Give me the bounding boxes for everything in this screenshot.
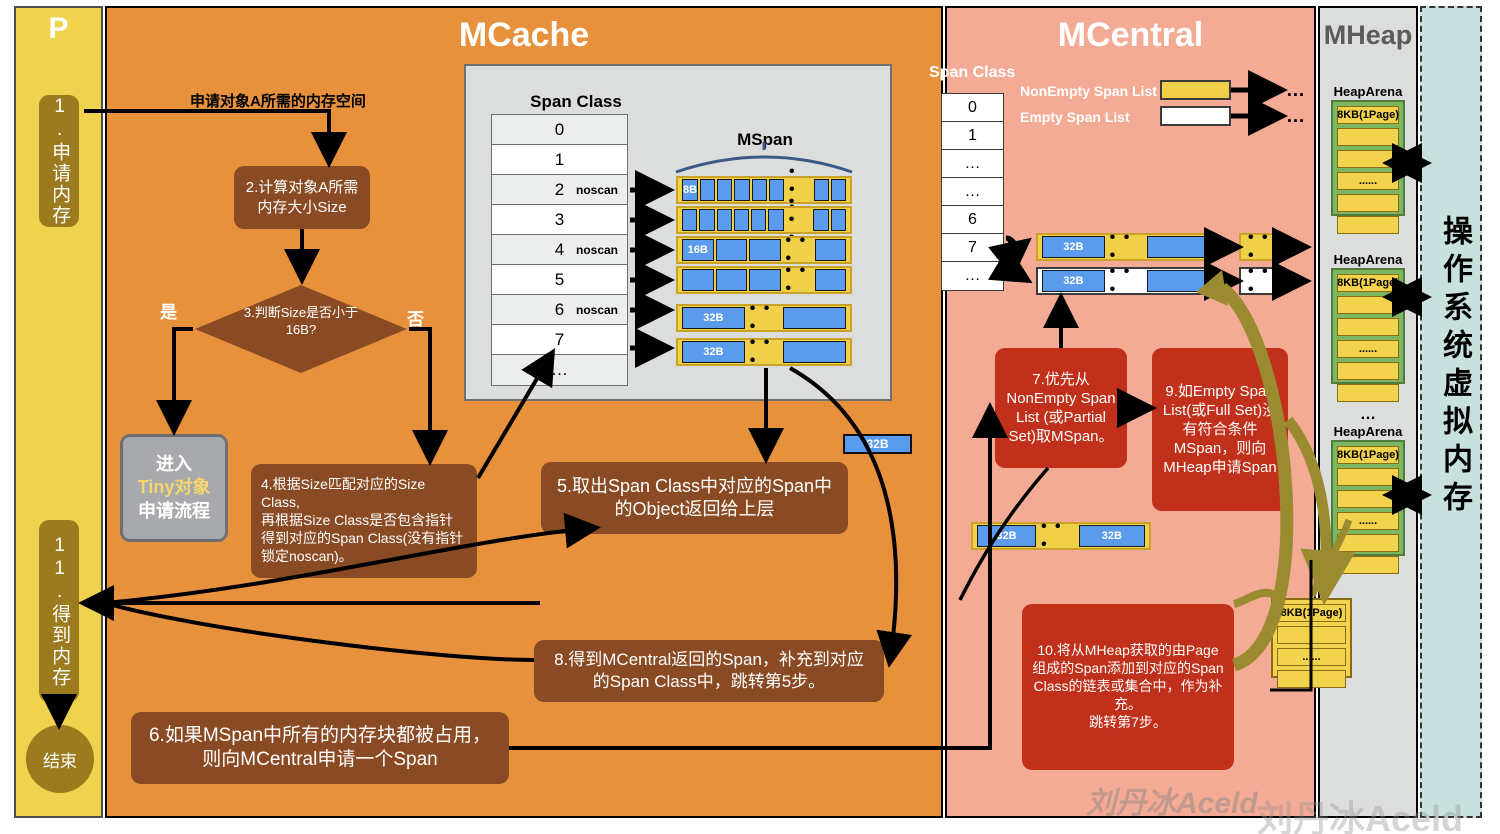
span-class-row[interactable]: … <box>492 355 627 385</box>
mspan-strip[interactable]: 16B• • • <box>676 236 852 264</box>
mspan-object <box>717 209 732 231</box>
arena-page: ...... <box>1337 512 1399 530</box>
span-object: 32B <box>1042 270 1105 292</box>
arena-ellipsis: … <box>1330 406 1406 424</box>
span-class-id: 0 <box>555 120 564 140</box>
noscan-tag: noscan <box>576 183 618 197</box>
mspan-strip[interactable]: 32B• • • <box>676 304 852 332</box>
nonempty-list-ellipsis: … <box>1286 80 1305 102</box>
mspan-ellipsis: • • • <box>747 300 782 336</box>
step-10-box: 10.将从MHeap获取的由Page组成的Span添加到对应的Span Clas… <box>1022 604 1234 770</box>
arena-page <box>1337 296 1399 314</box>
span-class-row[interactable]: 5 <box>492 265 627 295</box>
span-class-row[interactable]: 0 <box>492 115 627 145</box>
mspan-ellipsis: • • • <box>747 334 782 370</box>
arena-page <box>1337 150 1399 168</box>
end-node: 结束 <box>26 725 94 793</box>
mspan-object-tail <box>814 179 829 201</box>
detached-page-stack: 8KB(1Page) ...... <box>1271 598 1352 678</box>
mcentral-empty-next: • • • <box>1239 267 1285 295</box>
mspan-object-tail <box>815 239 847 261</box>
tiny-line-3: 申请流程 <box>138 500 210 523</box>
heap-arena[interactable]: 8KB(1Page)...... <box>1331 268 1405 384</box>
empty-span-list-box <box>1160 106 1231 126</box>
mspan-object <box>769 179 784 201</box>
tiny-line-2: Tiny对象 <box>138 476 211 499</box>
arena-page <box>1337 216 1399 234</box>
arena-page: 8KB(1Page) <box>1337 274 1399 292</box>
span-class-row[interactable]: 7 <box>492 325 627 355</box>
panel-title-p: P <box>14 12 103 46</box>
mcache-span-class-table: 012noscan34noscan56noscan7… <box>491 114 628 386</box>
mcentral-span-class-header: Span Class <box>929 64 1015 82</box>
mspan-object <box>734 179 749 201</box>
arena-label: HeapArena <box>1330 252 1406 267</box>
mspan-object <box>682 209 697 231</box>
mcentral-empty-span: 32B • • • <box>1036 267 1217 295</box>
nonempty-span-list-label: NonEmpty Span List <box>1020 83 1157 99</box>
panel-title-mcache: MCache <box>105 16 943 55</box>
mcentral-span-class-row[interactable]: 0 <box>942 94 1003 122</box>
noscan-tag: noscan <box>576 243 618 257</box>
span-class-row[interactable]: 3 <box>492 205 627 235</box>
floating-32b-object: 32B <box>843 434 912 454</box>
arena-page <box>1337 490 1399 508</box>
span-class-id: 3 <box>555 210 564 230</box>
watermark-1: 刘丹冰Aceld <box>1086 778 1258 822</box>
tiny-line-1: 进入 <box>156 453 192 476</box>
mspan-object-tail <box>813 209 828 231</box>
mcache-mspan-header: MSpan <box>700 130 830 150</box>
span-class-id: 5 <box>555 270 564 290</box>
step-11-box: 11.得到内存 <box>39 520 79 702</box>
mspan-object <box>682 269 714 291</box>
branch-yes-label: 是 <box>160 298 177 323</box>
step-2-box: 2.计算对象A所需内存大小Size <box>234 166 370 229</box>
os-virtual-memory-label: 操作系统虚拟内存 <box>1428 215 1476 519</box>
mspan-object <box>717 179 732 201</box>
arena-page <box>1337 128 1399 146</box>
mspan-object-tail <box>815 269 847 291</box>
heap-arena[interactable]: 8KB(1Page)...... <box>1331 100 1405 216</box>
mspan-object-tail <box>831 209 846 231</box>
page-cell <box>1277 626 1346 644</box>
mcentral-span-class-row[interactable]: 7 <box>942 234 1003 262</box>
span-ellipsis: • • • <box>1107 263 1145 299</box>
step-1-box: 1.申请内存 <box>39 95 79 227</box>
mspan-object: 16B <box>682 239 714 261</box>
arena-page: ...... <box>1337 340 1399 358</box>
mspan-strip[interactable]: 32B• • • <box>676 338 852 366</box>
watermark-2: 刘丹冰Aceld <box>1257 790 1463 834</box>
mcentral-loose-span: 32B • • • 32B <box>971 522 1151 550</box>
span-class-row[interactable]: 6noscan <box>492 295 627 325</box>
mspan-strip[interactable]: • • • <box>676 206 852 234</box>
loose-span-object-right: 32B <box>1079 525 1145 547</box>
loose-span-ellipsis: • • • <box>1038 518 1077 554</box>
arena-page: 8KB(1Page) <box>1337 106 1399 124</box>
step-4-box: 4.根据Size匹配对应的Size Class, 再根据Size Class是否… <box>251 464 477 578</box>
span-class-row[interactable]: 4noscan <box>492 235 627 265</box>
loose-span-object-left: 32B <box>977 525 1036 547</box>
span-class-row[interactable]: 2noscan <box>492 175 627 205</box>
mspan-object: 32B <box>682 307 745 329</box>
empty-list-ellipsis: … <box>1286 106 1305 128</box>
span-class-id: 2 <box>555 180 564 200</box>
request-memory-edge-label: 申请对象A所需的内存空间 <box>190 90 366 111</box>
mspan-object-tail <box>783 307 846 329</box>
step-3-decision: 3.判断Size是否小于16B? <box>193 283 409 375</box>
arena-page <box>1337 534 1399 552</box>
mcentral-span-class-row[interactable]: … <box>942 178 1003 206</box>
arena-page <box>1337 556 1399 574</box>
mcentral-nonempty-span: 32B • • • <box>1036 233 1217 261</box>
panel-title-mheap: MHeap <box>1318 20 1418 51</box>
page-cell: ...... <box>1277 648 1346 666</box>
mspan-object <box>699 209 714 231</box>
mcentral-span-class-row[interactable]: 6 <box>942 206 1003 234</box>
mcentral-span-class-row[interactable]: … <box>942 150 1003 178</box>
span-object-tail <box>1147 270 1211 292</box>
next-ellipsis: • • • <box>1245 229 1279 265</box>
arena-page <box>1337 468 1399 486</box>
span-class-id: 4 <box>555 240 564 260</box>
mcentral-span-class-row[interactable]: 1 <box>942 122 1003 150</box>
mspan-object <box>751 209 766 231</box>
arena-page <box>1337 194 1399 212</box>
diagram-canvas: P MCache MCentral MHeap 操作系统虚拟内存 1.申请内存 … <box>0 0 1500 834</box>
arena-page: ...... <box>1337 172 1399 190</box>
step-6-box: 6.如果MSpan中所有的内存块都被占用，则向MCentral申请一个Span <box>131 712 509 784</box>
noscan-tag: noscan <box>576 303 618 317</box>
next-ellipsis: • • • <box>1245 263 1279 299</box>
span-class-row[interactable]: 1 <box>492 145 627 175</box>
mspan-strip[interactable]: • • • <box>676 266 852 294</box>
tiny-object-flow-box: 进入 Tiny对象 申请流程 <box>120 434 228 542</box>
mcentral-span-class-table: 01……67… <box>941 93 1004 291</box>
mcentral-span-class-row[interactable]: … <box>942 262 1003 290</box>
arena-page <box>1337 384 1399 402</box>
empty-span-list-label: Empty Span List <box>1020 109 1130 125</box>
mspan-object <box>749 269 781 291</box>
arena-label: HeapArena <box>1330 84 1406 99</box>
step-3-label: 3.判断Size是否小于16B? <box>238 305 364 339</box>
branch-no-label: 否 <box>407 305 424 330</box>
mspan-object-tail <box>783 341 846 363</box>
arena-page: 8KB(1Page) <box>1337 446 1399 464</box>
mcache-span-class-header: Span Class <box>516 92 636 112</box>
panel-title-mcentral: MCentral <box>945 16 1316 55</box>
arena-page <box>1337 362 1399 380</box>
arena-page <box>1337 318 1399 336</box>
mspan-object <box>768 209 783 231</box>
mspan-object: 32B <box>682 341 745 363</box>
mspan-object <box>752 179 767 201</box>
nonempty-span-list-box <box>1160 80 1231 100</box>
span-class-id: 1 <box>555 150 564 170</box>
page-cell: 8KB(1Page) <box>1277 604 1346 622</box>
span-ellipsis: • • • <box>1107 229 1145 265</box>
mspan-strip[interactable]: 8B• • • <box>676 176 852 204</box>
heap-arena[interactable]: 8KB(1Page)...... <box>1331 440 1405 556</box>
step-7-box: 7.优先从NonEmpty Span List (或Partial Set)取M… <box>995 348 1127 468</box>
mspan-ellipsis: • • • <box>783 262 813 298</box>
mspan-object <box>716 239 748 261</box>
span-class-id: 6 <box>555 300 564 320</box>
mspan-object <box>716 269 748 291</box>
mspan-object <box>700 179 715 201</box>
arena-label: HeapArena <box>1330 424 1406 439</box>
mspan-object-tail <box>831 179 846 201</box>
span-class-id: … <box>551 360 568 380</box>
mspan-object <box>749 239 781 261</box>
mspan-object: 8B <box>682 179 698 201</box>
span-object: 32B <box>1042 236 1105 258</box>
span-class-id: 7 <box>555 330 564 350</box>
page-cell <box>1277 670 1346 688</box>
span-object-tail <box>1147 236 1211 258</box>
step-8-box: 8.得到MCentral返回的Span，补充到对应的Span Class中，跳转… <box>534 640 884 702</box>
mspan-object <box>734 209 749 231</box>
mcentral-nonempty-next: • • • <box>1239 233 1285 261</box>
step-9-box: 9.如Empty Span List(或Full Set)没有符合条件MSpan… <box>1152 348 1288 511</box>
step-5-box: 5.取出Span Class中对应的Span中的Object返回给上层 <box>541 462 848 534</box>
